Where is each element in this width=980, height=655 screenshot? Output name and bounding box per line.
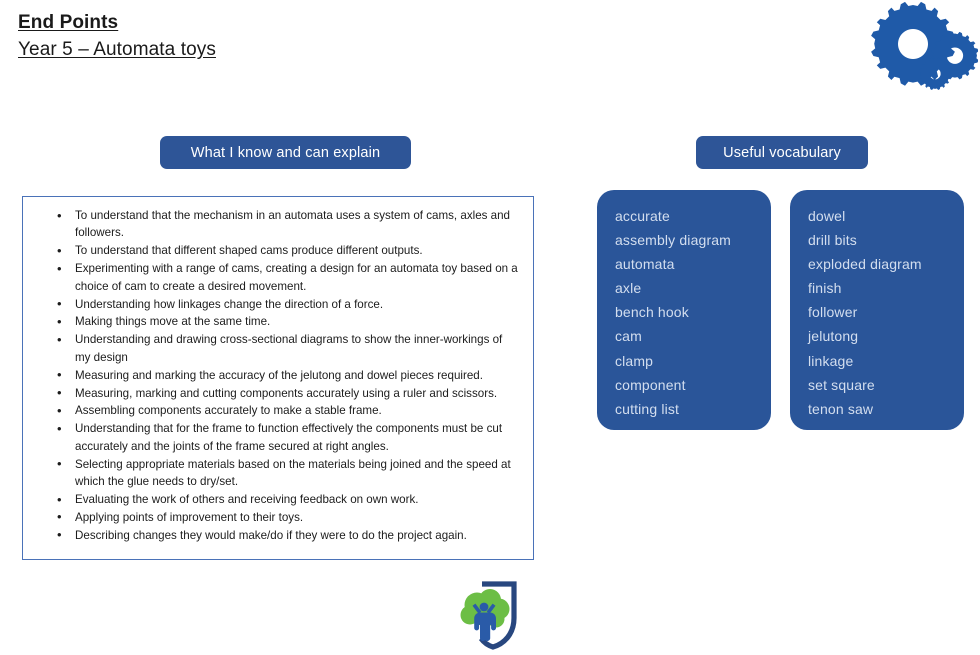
list-item: follower [808, 300, 964, 324]
list-item: Assembling components accurately to make… [31, 402, 525, 419]
page-subtitle: Year 5 – Automata toys [18, 36, 216, 63]
gears-icon [868, 0, 978, 100]
list-item: Measuring, marking and cutting component… [31, 385, 525, 402]
section-banner-vocabulary: Useful vocabulary [696, 136, 868, 169]
list-item: clamp [615, 349, 771, 373]
list-item: axle [615, 276, 771, 300]
list-item: To understand that the mechanism in an a… [31, 207, 525, 242]
list-item: cutting list [615, 397, 771, 421]
section-banner-endpoints: What I know and can explain [160, 136, 411, 169]
list-item: component [615, 373, 771, 397]
page-title: End Points [18, 10, 216, 36]
page-title-block: End Points Year 5 – Automata toys [18, 10, 216, 63]
list-item: Understanding how linkages change the di… [31, 296, 525, 313]
school-shield-tree-icon [452, 578, 532, 650]
list-item: Evaluating the work of others and receiv… [31, 491, 525, 508]
list-item: Making things move at the same time. [31, 313, 525, 330]
list-item: Applying points of improvement to their … [31, 509, 525, 526]
list-item: Describing changes they would make/do if… [31, 527, 525, 544]
vocabulary-list-1: accurate assembly diagram automata axle … [615, 204, 771, 421]
list-item: set square [808, 373, 964, 397]
list-item: cam [615, 324, 771, 348]
list-item: tenon saw [808, 397, 964, 421]
list-item: accurate [615, 204, 771, 228]
list-item: finish [808, 276, 964, 300]
list-item: To understand that different shaped cams… [31, 242, 525, 259]
list-item: automata [615, 252, 771, 276]
list-item: drill bits [808, 228, 964, 252]
list-item: jelutong [808, 324, 964, 348]
list-item: assembly diagram [615, 228, 771, 252]
list-item: bench hook [615, 300, 771, 324]
vocabulary-list-2: dowel drill bits exploded diagram finish… [808, 204, 964, 421]
list-item: Understanding that for the frame to func… [31, 420, 525, 455]
list-item: dowel [808, 204, 964, 228]
endpoints-list: To understand that the mechanism in an a… [31, 207, 525, 544]
list-item: exploded diagram [808, 252, 964, 276]
list-item: Experimenting with a range of cams, crea… [31, 260, 525, 295]
list-item: Selecting appropriate materials based on… [31, 456, 525, 491]
list-item: linkage [808, 349, 964, 373]
vocabulary-box-column-2: dowel drill bits exploded diagram finish… [790, 190, 964, 430]
list-item: Measuring and marking the accuracy of th… [31, 367, 525, 384]
vocabulary-box-column-1: accurate assembly diagram automata axle … [597, 190, 771, 430]
endpoints-box: To understand that the mechanism in an a… [22, 196, 534, 560]
list-item: Understanding and drawing cross-sectiona… [31, 331, 525, 366]
